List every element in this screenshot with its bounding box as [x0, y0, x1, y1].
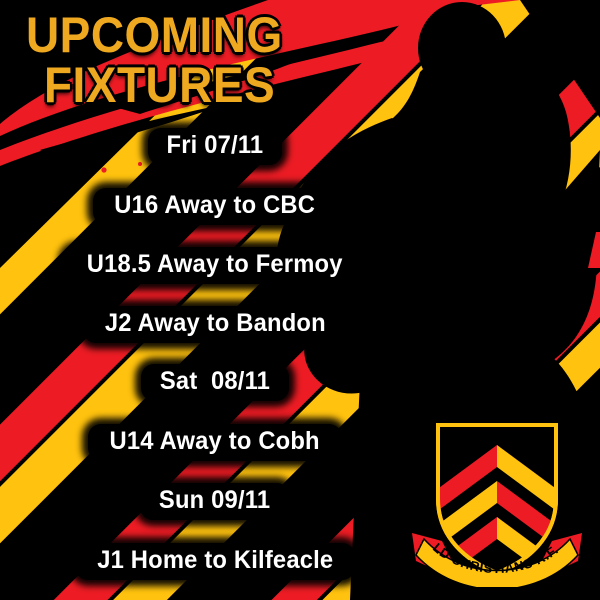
fixture-row: U16 Away to CBC — [0, 188, 430, 225]
fixture-date-text: Sun 09/11 — [159, 486, 270, 515]
fixture-match-pill: J1 Home to Kilfeacle — [75, 543, 356, 580]
fixture-row: U14 Away to Cobh — [0, 424, 430, 461]
fixture-row: Sat 08/11 — [0, 364, 430, 401]
fixture-match-text: J1 Home to Kilfeacle — [97, 546, 333, 575]
fixture-date-text: Sat 08/11 — [160, 367, 270, 396]
fixture-date-pill: Sat 08/11 — [141, 364, 289, 401]
fixture-match-text: U14 Away to Cobh — [110, 427, 320, 456]
fixture-match-pill: J2 Away to Bandon — [83, 306, 348, 343]
fixtures-poster: UPCOMING FIXTURES Fri 07/11U16 Away to C… — [0, 0, 600, 600]
fixture-row: Fri 07/11 — [0, 128, 430, 165]
fixture-date-pill: Fri 07/11 — [148, 128, 282, 165]
club-crest: OLD CHRISTIANS R.F.C. — [408, 415, 586, 587]
fixture-match-text: U16 Away to CBC — [115, 191, 316, 220]
title-line-2: FIXTURES — [44, 62, 284, 108]
fixture-match-pill: U14 Away to Cobh — [88, 424, 341, 461]
fixture-row: J2 Away to Bandon — [0, 306, 430, 343]
fixture-row: J1 Home to Kilfeacle — [0, 543, 430, 580]
fixture-date-text: Fri 07/11 — [167, 131, 264, 160]
fixture-row: Sun 09/11 — [0, 483, 430, 520]
fixture-date-pill: Sun 09/11 — [140, 483, 289, 520]
fixture-match-pill: U18.5 Away to Fermoy — [64, 247, 365, 284]
page-title: UPCOMING FIXTURES — [26, 12, 305, 108]
fixture-match-pill: U16 Away to CBC — [93, 188, 336, 225]
fixture-match-text: J2 Away to Bandon — [105, 309, 326, 338]
title-line-1: UPCOMING — [26, 12, 283, 58]
fixture-row: U18.5 Away to Fermoy — [0, 247, 430, 284]
fixture-match-text: U18.5 Away to Fermoy — [87, 250, 343, 279]
